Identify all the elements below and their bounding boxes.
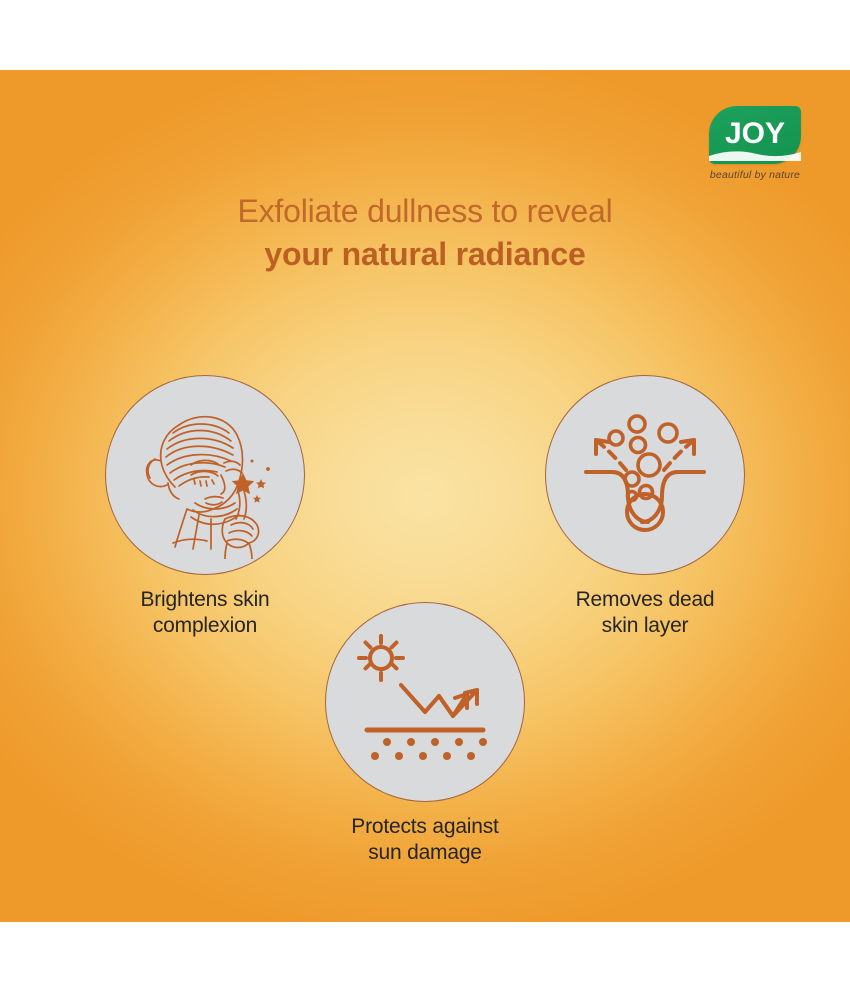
sun-reflect-shield-icon <box>349 632 501 772</box>
brand-logo: JOY beautiful by nature <box>695 106 815 181</box>
woman-face-sparkle-icon <box>121 391 289 559</box>
page-title: Exfoliate dullness to reveal your natura… <box>0 192 850 274</box>
feature-icon-circle <box>325 602 525 802</box>
promo-banner: JOY beautiful by nature Exfoliate dullne… <box>0 70 850 922</box>
feature-caption: Protects against sun damage <box>295 814 555 867</box>
feature-brightens-skin-complexion: Brightens skin complexion <box>75 375 335 640</box>
feature-protects-against-sun-damage: Protects against sun damage <box>295 602 555 867</box>
logo-wordmark: JOY <box>725 119 785 149</box>
headline-line-2: your natural radiance <box>0 235 850 274</box>
feature-icon-circle <box>545 375 745 575</box>
feature-caption-line-2: sun damage <box>295 840 555 866</box>
feature-caption-line-1: Protects against <box>295 814 555 840</box>
pore-bubbles-arrows-icon <box>570 400 720 550</box>
brand-tagline: beautiful by nature <box>695 169 815 181</box>
feature-removes-dead-skin-layer: Removes dead skin layer <box>515 375 775 640</box>
feature-icon-circle <box>105 375 305 575</box>
headline-line-1: Exfoliate dullness to reveal <box>0 192 850 231</box>
leaf-icon: JOY <box>709 106 801 164</box>
